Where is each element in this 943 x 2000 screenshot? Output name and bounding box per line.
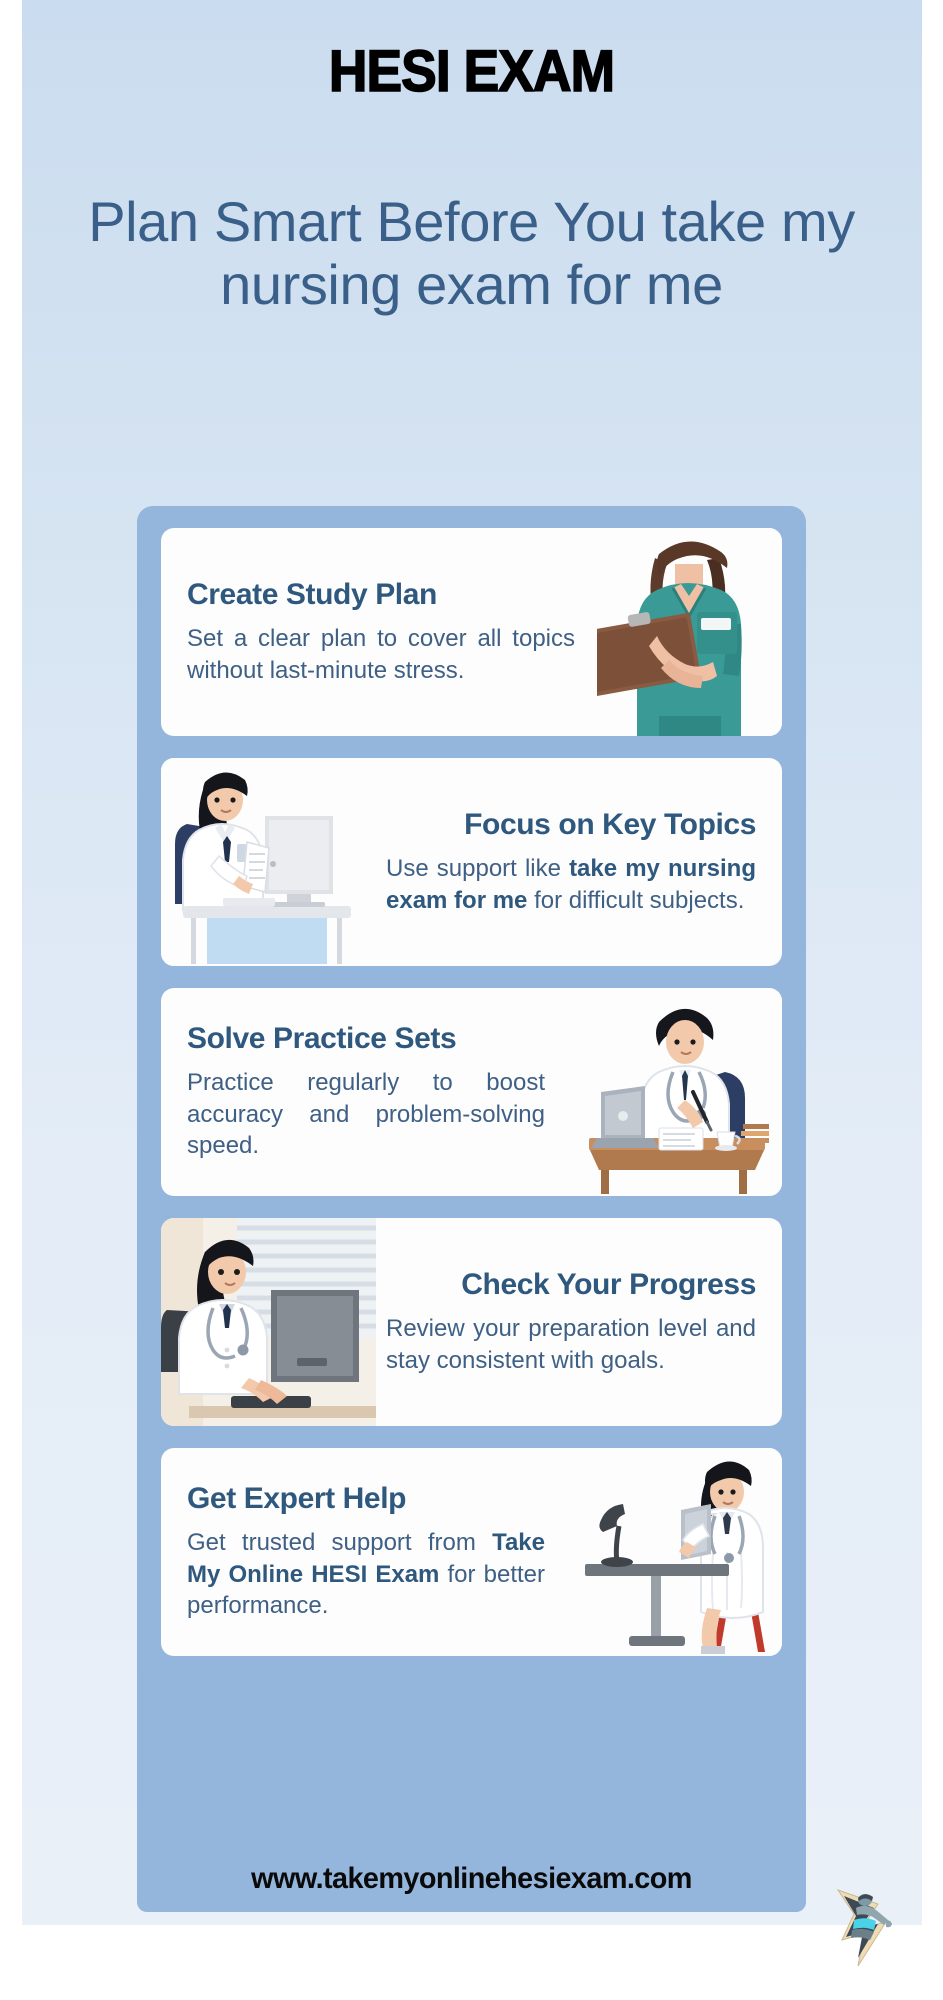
card-title: Create Study Plan	[187, 578, 575, 611]
card-title: Get Expert Help	[187, 1482, 545, 1515]
card-title: Check Your Progress	[386, 1268, 756, 1301]
card-text: Get Expert Help Get trusted support from…	[161, 1466, 567, 1639]
card-focus-on-key-topics[interactable]: Focus on Key Topics Use support like tak…	[161, 758, 782, 966]
card-body: Get trusted support from Take My Online …	[187, 1527, 545, 1623]
doctor-reading-at-desk-with-lamp-icon	[567, 1448, 782, 1656]
nurse-with-clipboard-icon	[597, 528, 782, 736]
page-title: HESI EXAM	[38, 38, 906, 105]
card-text: Check Your Progress Review your preparat…	[376, 1252, 782, 1393]
card-solve-practice-sets[interactable]: Solve Practice Sets Practice regularly t…	[161, 988, 782, 1196]
footer-url-bar[interactable]: www.takemyonlinehesiexam.com	[137, 1846, 806, 1912]
card-body-prefix: Practice regularly to boost accuracy and…	[187, 1069, 545, 1160]
card-text: Create Study Plan Set a clear plan to co…	[161, 562, 597, 703]
card-body: Use support like take my nursing exam fo…	[386, 853, 756, 917]
card-body-prefix: Use support like	[386, 855, 569, 882]
card-title: Solve Practice Sets	[187, 1022, 545, 1055]
superhero-lightning-logo-icon	[828, 1884, 900, 1970]
card-create-study-plan[interactable]: Create Study Plan Set a clear plan to co…	[161, 528, 782, 736]
website-url[interactable]: www.takemyonlinehesiexam.com	[251, 1862, 692, 1896]
card-get-expert-help[interactable]: Get Expert Help Get trusted support from…	[161, 1448, 782, 1656]
card-body: Practice regularly to boost accuracy and…	[187, 1067, 545, 1163]
card-check-your-progress[interactable]: Check Your Progress Review your preparat…	[161, 1218, 782, 1426]
infographic-page: HESI EXAM Plan Smart Before You take my …	[0, 0, 943, 2000]
card-body: Review your preparation level and stay c…	[386, 1313, 756, 1377]
cards-panel: Create Study Plan Set a clear plan to co…	[137, 506, 806, 1906]
headline: Plan Smart Before You take my nursing ex…	[38, 190, 905, 317]
card-body-suffix: for difficult subjects.	[527, 887, 744, 914]
card-body-prefix: Review your preparation level and stay c…	[386, 1315, 756, 1374]
card-body: Set a clear plan to cover all topics wit…	[187, 623, 575, 687]
card-text: Solve Practice Sets Practice regularly t…	[161, 1006, 567, 1179]
doctor-at-desk-with-laptop-icon	[567, 988, 782, 1196]
nurse-at-desktop-computer-icon	[161, 758, 376, 966]
card-body-prefix: Set a clear plan to cover all topics wit…	[187, 625, 575, 684]
card-body-prefix: Get trusted support from	[187, 1529, 492, 1556]
card-text: Focus on Key Topics Use support like tak…	[376, 792, 782, 933]
doctor-typing-at-monitor-icon	[161, 1218, 376, 1426]
card-title: Focus on Key Topics	[386, 808, 756, 841]
